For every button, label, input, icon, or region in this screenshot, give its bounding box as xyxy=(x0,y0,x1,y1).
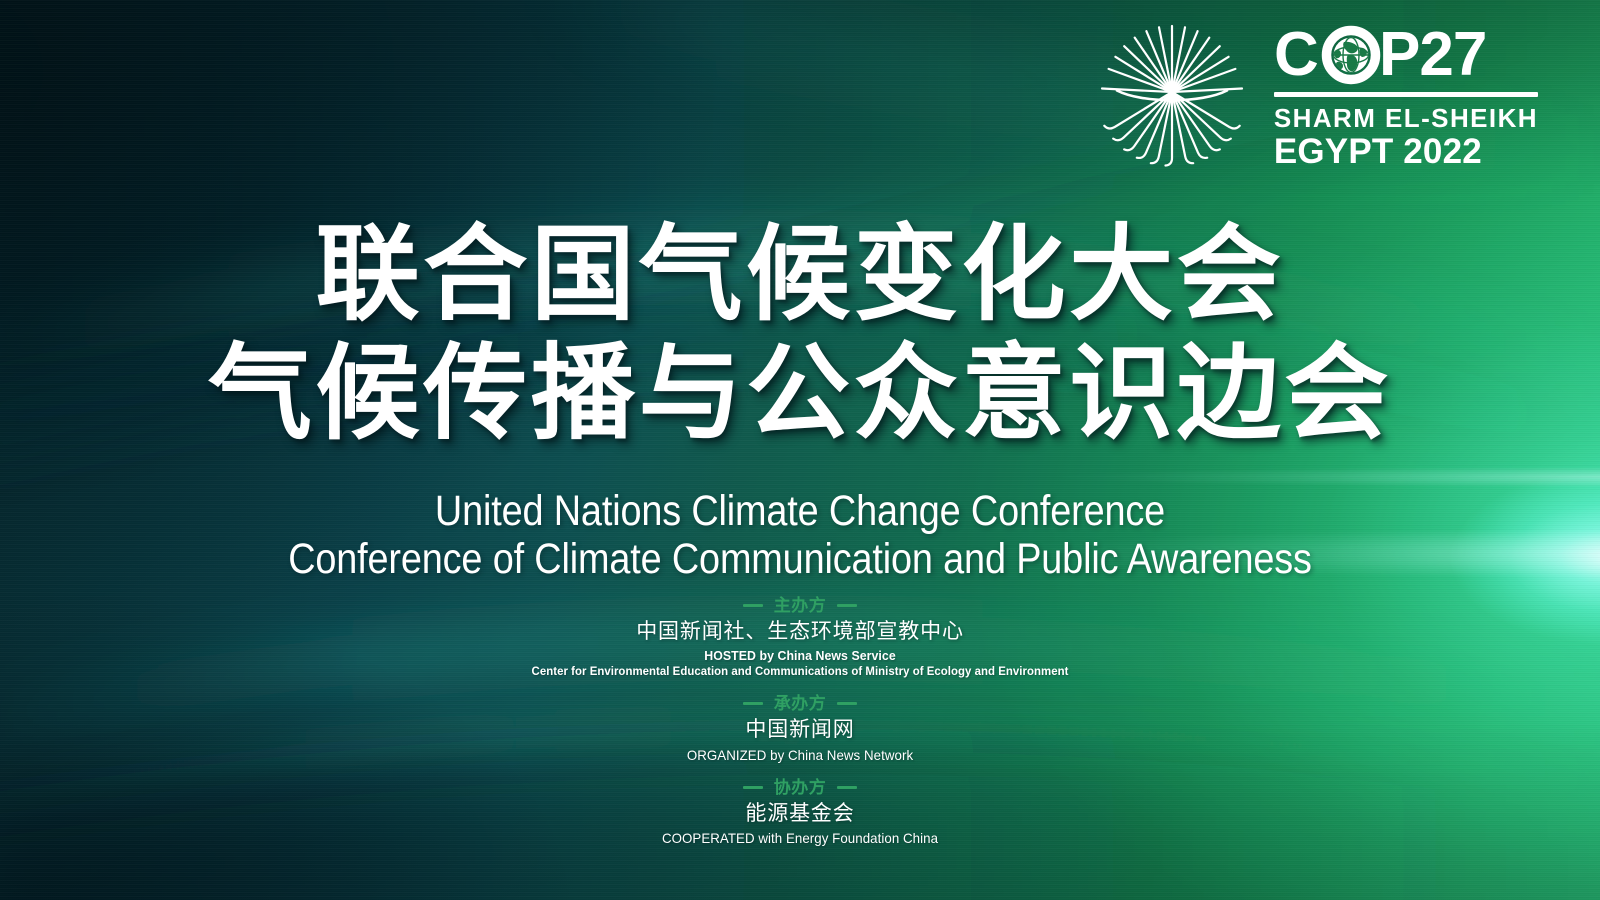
cop27-country-year-label: EGYPT 2022 xyxy=(1274,134,1538,170)
dash-left-icon xyxy=(743,702,763,705)
credit-organizer-en-1: ORGANIZED by China News Network xyxy=(40,746,1560,764)
svg-text:C: C xyxy=(1274,24,1318,86)
credit-host-en-1: HOSTED by China News Service xyxy=(40,648,1560,665)
cop27-divider-rule xyxy=(1274,92,1538,97)
credit-group-host: 主办方 中国新闻社、生态环境部宣教中心 HOSTED by China News… xyxy=(0,594,1600,680)
credit-kicker-host: 主办方 xyxy=(743,595,858,616)
credit-kicker-cooperator: 协办方 xyxy=(743,777,858,798)
credit-group-cooperator: 协办方 能源基金会 COOPERATED with Energy Foundat… xyxy=(0,776,1600,848)
credit-cooperator-en-1: COOPERATED with Energy Foundation China xyxy=(40,829,1560,847)
credit-organizer-zh: 中国新闻网 xyxy=(0,715,1600,745)
subtitle-line-2: Conference of Climate Communication and … xyxy=(96,535,1504,583)
dash-left-icon xyxy=(743,786,763,789)
banner-canvas: C P27 xyxy=(0,0,1600,900)
cop27-title-lettering: C P27 xyxy=(1274,24,1526,86)
credit-host-zh: 中国新闻社、生态环境部宣教中心 xyxy=(0,617,1600,647)
cop27-sun-emblem-icon xyxy=(1096,22,1248,172)
headline-line-1: 联合国气候变化大会 xyxy=(0,216,1600,335)
credit-kicker-organizer-label: 承办方 xyxy=(774,693,827,714)
credit-host-en-2: Center for Environmental Education and C… xyxy=(40,664,1560,680)
cop27-title: C P27 xyxy=(1274,24,1538,86)
subtitle-line-1: United Nations Climate Change Conference xyxy=(96,487,1504,535)
subtitle: United Nations Climate Change Conference… xyxy=(0,487,1600,583)
credits-block: 主办方 中国新闻社、生态环境部宣教中心 HOSTED by China News… xyxy=(0,594,1600,848)
dash-left-icon xyxy=(743,604,763,607)
cop27-city-label: SHARM EL-SHEIKH xyxy=(1274,105,1538,132)
cop27-wordmark: C P27 xyxy=(1274,24,1538,169)
headline: 联合国气候变化大会 气候传播与公众意识边会 xyxy=(0,216,1600,453)
credit-cooperator-zh: 能源基金会 xyxy=(0,799,1600,829)
headline-line-2: 气候传播与公众意识边会 xyxy=(0,335,1600,454)
credit-group-organizer: 承办方 中国新闻网 ORGANIZED by China News Networ… xyxy=(0,692,1600,764)
credit-kicker-host-label: 主办方 xyxy=(774,595,827,616)
credit-kicker-cooperator-label: 协办方 xyxy=(774,777,827,798)
credit-kicker-organizer: 承办方 xyxy=(743,693,858,714)
dash-right-icon xyxy=(837,702,857,705)
cop27-logo: C P27 xyxy=(1096,22,1538,172)
dash-right-icon xyxy=(837,786,857,789)
dash-right-icon xyxy=(837,604,857,607)
svg-text:P27: P27 xyxy=(1379,24,1486,86)
